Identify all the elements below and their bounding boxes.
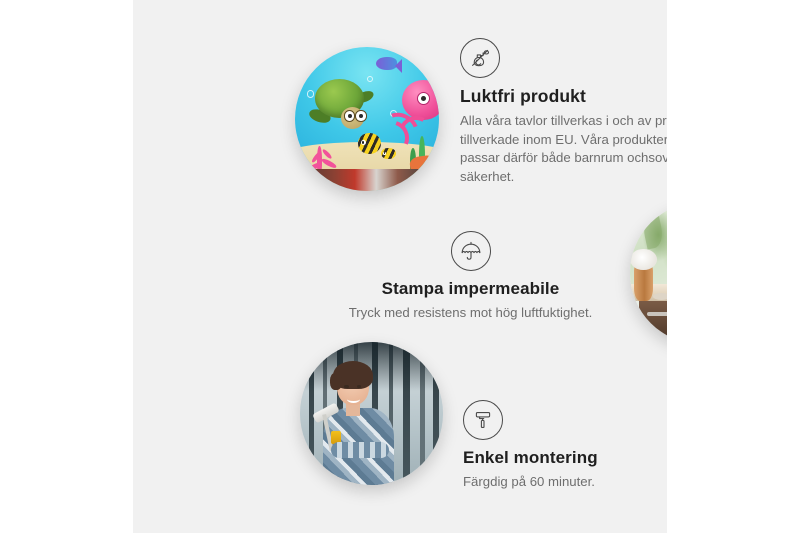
bubble-icon bbox=[367, 76, 373, 82]
content-panel: Luktfri produkt Alla våra tavlor tillver… bbox=[133, 0, 667, 533]
feature-description: Alla våra tavlor tillverkas i och av pro… bbox=[460, 112, 667, 187]
underwater-scene bbox=[295, 47, 439, 191]
forest-canopy bbox=[300, 342, 443, 391]
feature-title: Enkel montering bbox=[463, 448, 667, 468]
forest-scene bbox=[300, 342, 443, 485]
feature-odourless: Luktfri produkt Alla våra tavlor tillver… bbox=[460, 38, 667, 187]
paint-roller-icon bbox=[463, 400, 503, 440]
feature-description: Tryck med resistens mot hög luftfuktighe… bbox=[338, 304, 603, 323]
woman-smile bbox=[347, 395, 360, 403]
bubble-icon bbox=[307, 90, 315, 98]
yellow-fish bbox=[381, 148, 395, 160]
blue-fish bbox=[376, 57, 398, 70]
leaf-motif bbox=[641, 214, 666, 250]
bottom-strip bbox=[307, 169, 434, 191]
woman-hair bbox=[333, 361, 373, 390]
soap-dish bbox=[653, 293, 667, 300]
feature-easy-mounting: Enkel montering Färgdig på 60 minuter. bbox=[463, 400, 667, 492]
white-flowers bbox=[630, 249, 657, 270]
photo-bathroom bbox=[630, 202, 667, 344]
feature-description: Färgdig på 60 minuter. bbox=[463, 473, 667, 492]
bathroom-scene bbox=[630, 202, 667, 344]
photo-underwater bbox=[295, 47, 439, 191]
yellow-fish bbox=[358, 133, 381, 153]
woman-eye bbox=[344, 385, 348, 388]
infographic-canvas: Luktfri produkt Alla våra tavlor tillver… bbox=[0, 0, 800, 533]
feature-title: Luktfri produkt bbox=[460, 86, 667, 107]
vanity-cabinet bbox=[639, 301, 667, 344]
feature-waterproof: Stampa impermeabile Tryck med resistens … bbox=[338, 231, 603, 323]
no-fragrance-spray-icon bbox=[460, 38, 500, 78]
turtle-eye bbox=[355, 110, 366, 121]
woman-folded-arms bbox=[331, 442, 388, 458]
photo-forest bbox=[300, 342, 443, 485]
umbrella-icon bbox=[451, 231, 491, 271]
feature-title: Stampa impermeabile bbox=[338, 279, 603, 299]
turtle-eye bbox=[344, 110, 355, 121]
